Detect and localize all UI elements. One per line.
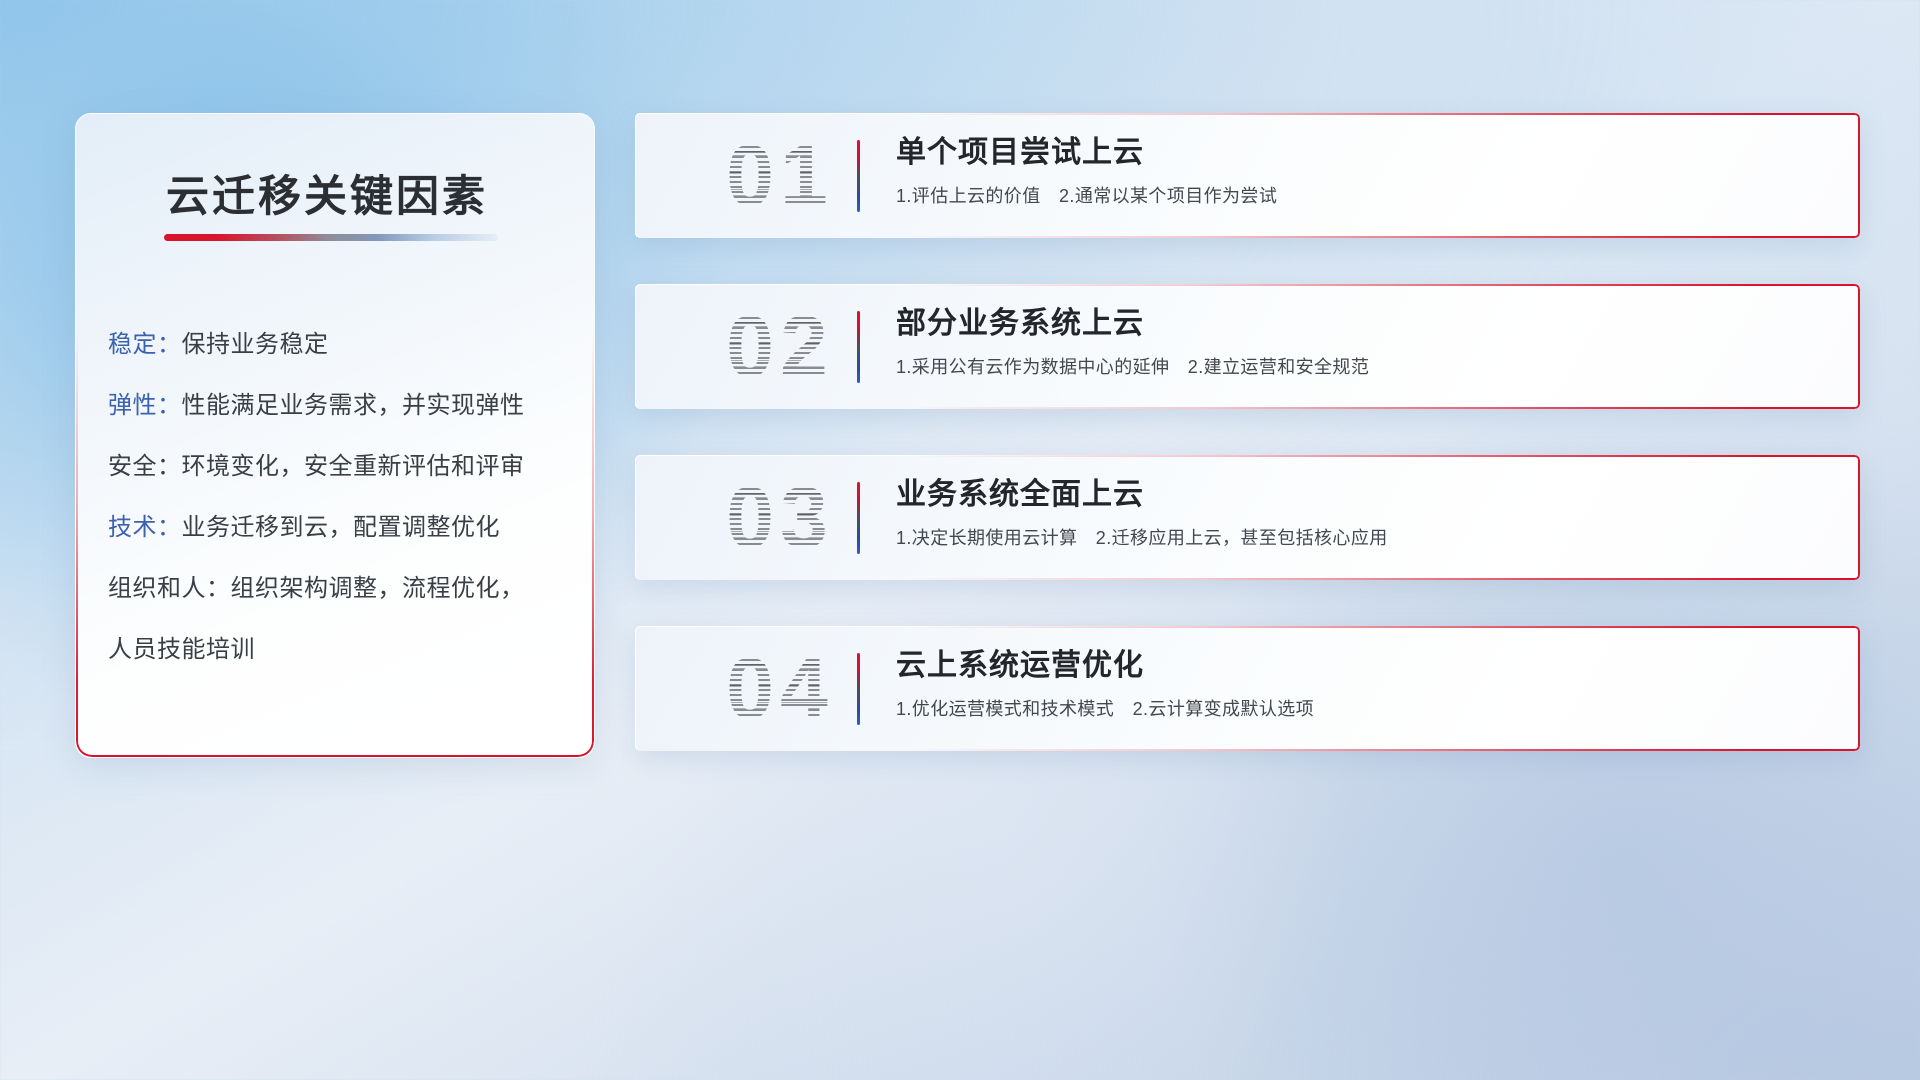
factor-text: 环境变化，安全重新评估和评审 [182, 453, 525, 480]
title-underline-gradient [164, 234, 498, 241]
stage-text-block: 云上系统运营优化1.优化运营模式和技术模式 2.云计算变成默认选项 [896, 646, 1836, 722]
factor-label: 组织和人： [108, 575, 231, 602]
page-title: 云迁移关键因素 [166, 162, 488, 224]
factor-label: 弹性： [108, 392, 182, 419]
factor-label: 安全： [108, 453, 182, 480]
factor-row: 稳定：保持业务稳定 [108, 314, 578, 375]
key-factors-panel: 云迁移关键因素 稳定：保持业务稳定弹性：性能满足业务需求，并实现弹性安全：环境变… [75, 113, 595, 758]
migration-stage-list: 010101单个项目尝试上云1.评估上云的价值 2.通常以某个项目作为尝试020… [635, 113, 1860, 797]
factor-row: 人员技能培训 [108, 619, 578, 680]
stage-heading: 云上系统运营优化 [896, 646, 1836, 686]
factor-text: 组织架构调整，流程优化， [231, 575, 525, 602]
stage-subtitle: 1.评估上云的价值 2.通常以某个项目作为尝试 [896, 183, 1836, 209]
stage-subtitle: 1.优化运营模式和技术模式 2.云计算变成默认选项 [896, 696, 1836, 722]
stage-card[interactable]: 020202部分业务系统上云1.采用公有云作为数据中心的延伸 2.建立运营和安全… [635, 284, 1860, 409]
stage-heading: 业务系统全面上云 [896, 475, 1836, 515]
stage-text-block: 单个项目尝试上云1.评估上云的价值 2.通常以某个项目作为尝试 [896, 133, 1836, 209]
stage-accent-bar [857, 311, 860, 383]
factor-text: 保持业务稳定 [182, 331, 329, 358]
stage-accent-bar [857, 653, 860, 725]
stage-subtitle: 1.采用公有云作为数据中心的延伸 2.建立运营和安全规范 [896, 354, 1836, 380]
stage-text-block: 部分业务系统上云1.采用公有云作为数据中心的延伸 2.建立运营和安全规范 [896, 304, 1836, 380]
stage-number-blue-scanlines: 03 [665, 463, 895, 573]
stage-accent-bar [857, 140, 860, 212]
factor-row: 组织和人：组织架构调整，流程优化， [108, 558, 578, 619]
stage-heading: 部分业务系统上云 [896, 304, 1836, 344]
stage-subtitle: 1.决定长期使用云计算 2.迁移应用上云，甚至包括核心应用 [896, 525, 1836, 551]
factor-row: 弹性：性能满足业务需求，并实现弹性 [108, 375, 578, 436]
factor-list: 稳定：保持业务稳定弹性：性能满足业务需求，并实现弹性安全：环境变化，安全重新评估… [108, 314, 578, 680]
factor-text: 业务迁移到云，配置调整优化 [182, 514, 501, 541]
factor-row: 安全：环境变化，安全重新评估和评审 [108, 436, 578, 497]
stage-card[interactable]: 010101单个项目尝试上云1.评估上云的价值 2.通常以某个项目作为尝试 [635, 113, 1860, 238]
stage-card[interactable]: 030303业务系统全面上云1.决定长期使用云计算 2.迁移应用上云，甚至包括核… [635, 455, 1860, 580]
factor-label: 稳定： [108, 331, 182, 358]
stage-heading: 单个项目尝试上云 [896, 133, 1836, 173]
stage-card[interactable]: 040404云上系统运营优化1.优化运营模式和技术模式 2.云计算变成默认选项 [635, 626, 1860, 751]
factor-text: 性能满足业务需求，并实现弹性 [182, 392, 525, 419]
stage-accent-bar [857, 482, 860, 554]
stage-number-blue-scanlines: 04 [665, 634, 895, 744]
stage-number-blue-scanlines: 02 [665, 292, 895, 402]
factor-text: 人员技能培训 [108, 636, 255, 663]
factor-row: 技术：业务迁移到云，配置调整优化 [108, 497, 578, 558]
factor-label: 技术： [108, 514, 182, 541]
stage-text-block: 业务系统全面上云1.决定长期使用云计算 2.迁移应用上云，甚至包括核心应用 [896, 475, 1836, 551]
stage-number-blue-scanlines: 01 [665, 121, 895, 231]
